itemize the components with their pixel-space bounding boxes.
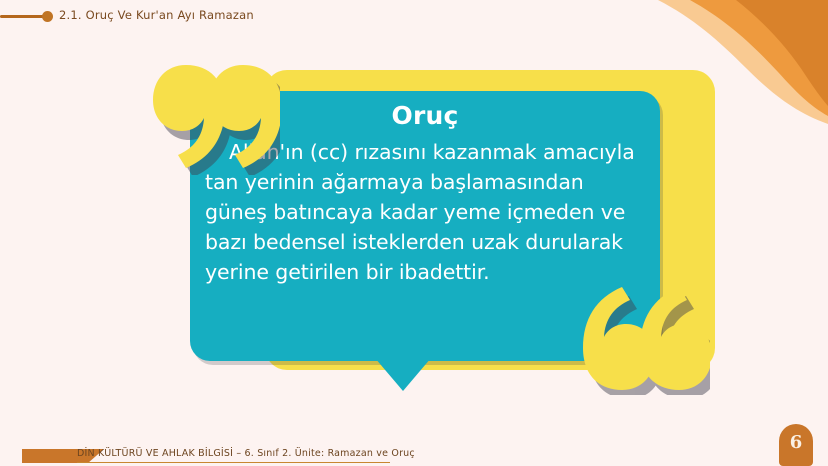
quote-card: Oruç Allah'ın (cc) rızasını kazanmak ama… <box>150 60 690 390</box>
slide-canvas: 2.1. Oruç Ve Kur'an Ayı Ramazan Oruç All… <box>0 0 828 466</box>
footer-caption: DİN KÜLTÜRÜ VE AHLAK BİLGİSİ – 6. Sınıf … <box>77 448 415 461</box>
close-quotation-mark-icon <box>580 280 710 395</box>
footer-underline <box>77 462 390 463</box>
page-number-value: 6 <box>779 432 813 453</box>
open-quotation-mark-icon <box>150 60 280 175</box>
page-title: 2.1. Oruç Ve Kur'an Ayı Ramazan <box>59 8 254 22</box>
speech-bubble-tail-icon <box>375 358 431 391</box>
bullet-dot-icon <box>42 11 53 22</box>
header-accent-rule <box>0 15 44 18</box>
